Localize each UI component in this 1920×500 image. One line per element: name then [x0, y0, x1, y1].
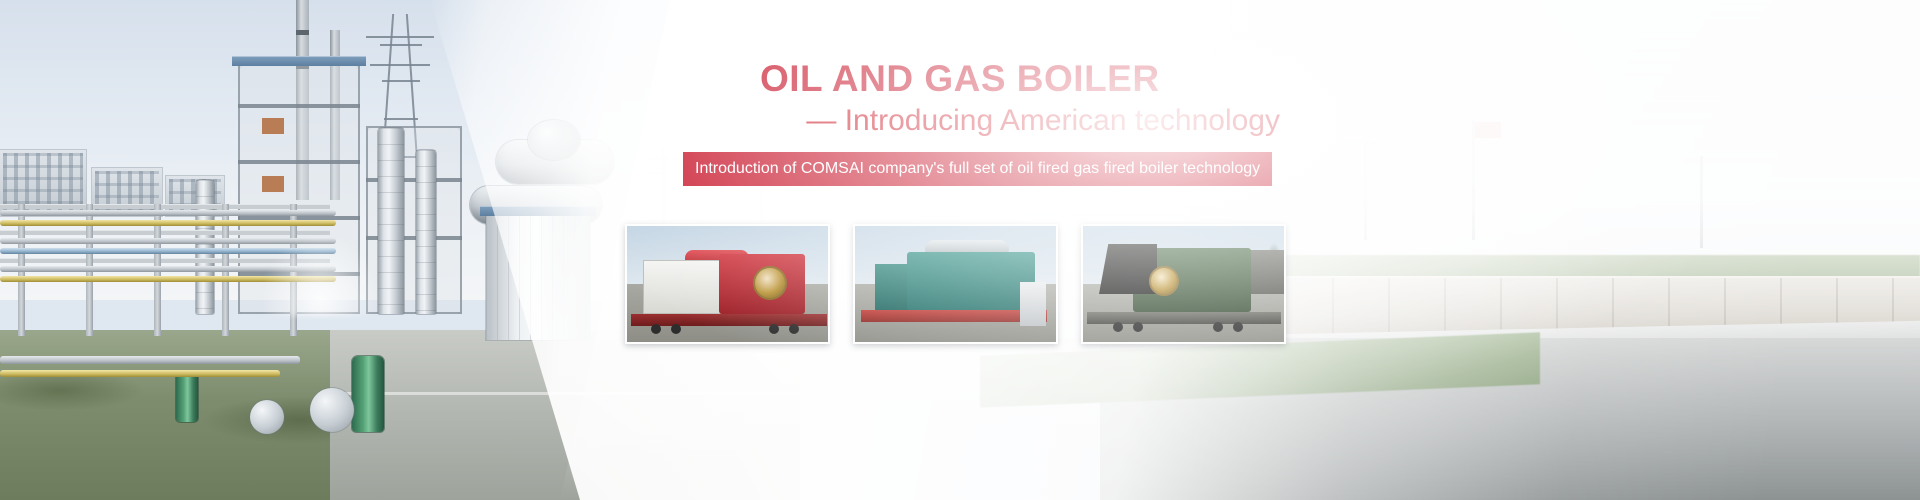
hero-banner: OIL AND GAS BOILER — Introducing America…	[0, 0, 1920, 500]
atmospheric-haze	[0, 0, 1920, 500]
